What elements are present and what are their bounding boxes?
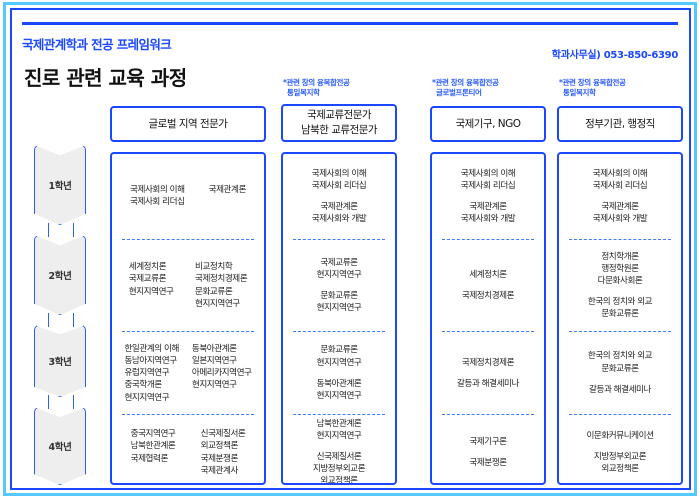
course-item: 국제분쟁론 xyxy=(201,453,246,465)
course-item: 다문화사회론 xyxy=(559,275,681,287)
course-item: 현지지역연구 xyxy=(192,379,252,391)
track-note-3: *관련 창의 융복합전공글로벌프론티어 xyxy=(432,78,498,98)
course-item: 갈등과 해결세미나 xyxy=(432,378,544,390)
course-group: 국제관계론국제사회와 개발 xyxy=(559,201,681,225)
course-subcolumn-right: 국제관계론 xyxy=(209,184,246,208)
course-item: 문화교류론 xyxy=(195,286,247,298)
course-item: 현지지역연구 xyxy=(283,430,395,442)
track-1-year-3-courses: 한일관계의 이해동남아지역연구유럽지역연구중국학개론현지지역연구동북아관계론일본… xyxy=(112,332,264,414)
course-item: 행정학원론 xyxy=(559,263,681,275)
year-chip-3: 3학년 xyxy=(34,325,86,397)
course-group: 국제교류론현지지역연구 xyxy=(283,257,395,281)
course-item: 국제관계사 xyxy=(201,465,246,477)
course-item: 지방정부외교론 xyxy=(283,463,395,475)
course-item: 비교정치학 xyxy=(195,261,247,273)
course-item: 지방정부외교론 xyxy=(559,451,681,463)
track-header-label: 남북한 교류전문가 xyxy=(301,123,377,138)
year-rail-connector xyxy=(48,223,74,237)
year-rail: 1학년2학년3학년4학년 xyxy=(34,145,86,485)
track-3-year-4-courses: 국제기구론국제분쟁론 xyxy=(432,415,544,485)
course-group: 국제기구론 xyxy=(432,436,544,448)
course-item: 동북아관계론 xyxy=(283,378,395,390)
course-item: 국제관계론 xyxy=(209,184,246,196)
track-2-year-2-courses: 국제교류론현지지역연구문화교류론현지지역연구 xyxy=(283,240,395,332)
course-item: 국제관계론 xyxy=(432,201,544,213)
track-body-4: 국제사회의 이해국제사회 리더십국제관계론국제사회와 개발정치학개론행정학원론다… xyxy=(557,152,683,485)
course-item: 신국제질서론 xyxy=(201,428,246,440)
course-item: 국제협력론 xyxy=(131,453,176,465)
course-subcolumn-left: 중국지역연구남북한관계론국제협력론 xyxy=(131,428,176,477)
course-group: 국제사회의 이해국제사회 리더십 xyxy=(559,168,681,192)
course-item: 현지지역연구 xyxy=(283,357,395,369)
course-item: 남북한관계론 xyxy=(283,418,395,430)
course-group: 국제관계론국제사회와 개발 xyxy=(283,201,395,225)
course-item: 갈등과 해결세미나 xyxy=(559,384,681,396)
track-header-2[interactable]: 국제교류전문가남북한 교류전문가 xyxy=(281,104,397,142)
track-body-2: 국제사회의 이해국제사회 리더십국제관계론국제사회와 개발국제교류론현지지역연구… xyxy=(281,152,397,485)
course-item: 아메리카지역연구 xyxy=(192,367,252,379)
year-rail-connector xyxy=(48,313,74,327)
track-4-year-4-courses: 이문화커뮤니케이션지방정부외교론외교정책론 xyxy=(559,415,681,485)
course-item: 한국의 정치와 외교 xyxy=(559,350,681,362)
course-group: 지방정부외교론외교정책론 xyxy=(559,451,681,475)
track-4-year-1-courses: 국제사회의 이해국제사회 리더십국제관계론국제사회와 개발 xyxy=(559,154,681,239)
page-title: 진로 관련 교육 과정 xyxy=(24,62,187,91)
course-item: 현지지역연구 xyxy=(195,298,247,310)
course-item: 현지지역연구 xyxy=(283,302,395,314)
course-item: 한국의 정치와 외교 xyxy=(559,296,681,308)
course-group: 국제정치경제론 xyxy=(432,357,544,369)
track-header-label: 국제기구, NGO xyxy=(455,117,520,132)
course-item: 국제사회의 이해 xyxy=(432,168,544,180)
course-item: 국제관계론 xyxy=(283,201,395,213)
track-header-label: 글로벌 지역 전문가 xyxy=(149,117,228,132)
course-group: 갈등과 해결세미나 xyxy=(432,378,544,390)
track-3-year-3-courses: 국제정치경제론갈등과 해결세미나 xyxy=(432,332,544,414)
header-rule xyxy=(22,22,678,25)
course-item: 정치학개론 xyxy=(559,251,681,263)
course-group: 정치학개론행정학원론다문화사회론 xyxy=(559,251,681,288)
course-group: 신국제질서론지방정부외교론외교정책론 xyxy=(283,451,395,485)
course-item: 국제사회와 개발 xyxy=(559,213,681,225)
course-item: 국제사회와 개발 xyxy=(283,213,395,225)
track-4-year-3-courses: 한국의 정치와 외교문화교류론갈등과 해결세미나 xyxy=(559,332,681,414)
course-subcolumn-right: 신국제질서론외교정책론국제분쟁론국제관계사 xyxy=(201,428,246,477)
course-item: 동북아관계론 xyxy=(192,343,252,355)
track-note-4: *관련 창의 융복합전공통일복지학 xyxy=(559,78,625,98)
course-subcolumn-left: 세계정치론국제교류론현지지역연구 xyxy=(129,261,174,310)
course-subcolumn-left: 국제사회의 이해국제사회 리더십 xyxy=(130,184,184,208)
track-2-year-1-courses: 국제사회의 이해국제사회 리더십국제관계론국제사회와 개발 xyxy=(283,154,395,239)
track-body-3: 국제사회의 이해국제사회 리더십국제관계론국제사회와 개발세계정치론국제정치경제… xyxy=(430,152,546,485)
course-item: 국제교류론 xyxy=(283,257,395,269)
course-item: 남북한관계론 xyxy=(131,440,176,452)
course-group: 이문화커뮤니케이션 xyxy=(559,430,681,442)
course-group: 갈등과 해결세미나 xyxy=(559,384,681,396)
course-group: 문화교류론현지지역연구 xyxy=(283,344,395,368)
track-header-3[interactable]: 국제기구, NGO xyxy=(430,106,546,142)
course-group: 한국의 정치와 외교문화교류론 xyxy=(559,350,681,374)
course-item: 국제사회의 이해 xyxy=(283,168,395,180)
track-2-year-3-courses: 문화교류론현지지역연구동북아관계론현지지역연구 xyxy=(283,332,395,414)
course-item: 국제기구론 xyxy=(432,436,544,448)
course-item: 외교정책론 xyxy=(283,475,395,485)
track-2-year-4-courses: 남북한관계론현지지역연구신국제질서론지방정부외교론외교정책론 xyxy=(283,415,395,485)
year-chip-4: 4학년 xyxy=(34,407,86,485)
track-header-4[interactable]: 정부기관, 행정직 xyxy=(557,106,683,142)
track-note-line: *관련 창의 융복합전공 xyxy=(283,78,349,88)
track-3-year-1-courses: 국제사회의 이해국제사회 리더십국제관계론국제사회와 개발 xyxy=(432,154,544,239)
track-1-year-1-courses: 국제사회의 이해국제사회 리더십국제관계론 xyxy=(112,154,264,239)
course-item: 문화교류론 xyxy=(283,344,395,356)
course-group: 국제정치경제론 xyxy=(432,290,544,302)
course-item: 문화교류론 xyxy=(559,308,681,320)
course-item: 중국지역연구 xyxy=(131,428,176,440)
course-item: 국제사회 리더십 xyxy=(432,180,544,192)
course-group: 국제사회의 이해국제사회 리더십 xyxy=(283,168,395,192)
course-item: 국제사회의 이해 xyxy=(559,168,681,180)
track-header-1[interactable]: 글로벌 지역 전문가 xyxy=(110,106,266,142)
office-contact: 학과사무실) 053-850-6390 xyxy=(552,46,678,61)
track-note-line: 통일복지학 xyxy=(559,88,625,98)
course-group: 세계정치론 xyxy=(432,269,544,281)
course-item: 국제교류론 xyxy=(129,273,174,285)
course-item: 국제사회 리더십 xyxy=(559,180,681,192)
track-1-year-2-courses: 세계정치론국제교류론현지지역연구비교정치학국제정치경제론문화교류론현지지역연구 xyxy=(112,240,264,332)
year-chip-label: 3학년 xyxy=(49,354,72,368)
course-item: 국제분쟁론 xyxy=(432,457,544,469)
track-note-line: 글로벌프론티어 xyxy=(432,88,498,98)
course-item: 신국제질서론 xyxy=(283,451,395,463)
track-header-label: 국제교류전문가 xyxy=(307,108,371,123)
course-item: 문화교류론 xyxy=(559,363,681,375)
year-chip-1: 1학년 xyxy=(34,145,86,225)
course-subcolumn-right: 비교정치학국제정치경제론문화교류론현지지역연구 xyxy=(195,261,247,310)
course-item: 중국학개론 xyxy=(124,379,178,391)
year-chip-label: 4학년 xyxy=(49,439,72,453)
course-group: 남북한관계론현지지역연구 xyxy=(283,418,395,442)
course-item: 국제정치경제론 xyxy=(432,357,544,369)
year-chip-label: 2학년 xyxy=(49,268,72,282)
course-item: 일본지역연구 xyxy=(192,355,252,367)
track-3-year-2-courses: 세계정치론국제정치경제론 xyxy=(432,240,544,332)
course-subcolumn-left: 한일관계의 이해동남아지역연구유럽지역연구중국학개론현지지역연구 xyxy=(124,343,178,404)
course-item: 한일관계의 이해 xyxy=(124,343,178,355)
course-item: 동남아지역연구 xyxy=(124,355,178,367)
course-item: 현지지역연구 xyxy=(283,390,395,402)
course-group: 한국의 정치와 외교문화교류론 xyxy=(559,296,681,320)
course-item: 국제관계론 xyxy=(559,201,681,213)
department-title: 국제관계학과 전공 프레임워크 xyxy=(22,34,171,53)
course-item: 국제사회의 이해 xyxy=(130,184,184,196)
track-note-line: *관련 창의 융복합전공 xyxy=(432,78,498,88)
course-item: 유럽지역연구 xyxy=(124,367,178,379)
track-4-year-2-courses: 정치학개론행정학원론다문화사회론한국의 정치와 외교문화교류론 xyxy=(559,240,681,332)
year-chip-2: 2학년 xyxy=(34,235,86,315)
course-group: 국제관계론국제사회와 개발 xyxy=(432,201,544,225)
course-group: 문화교류론현지지역연구 xyxy=(283,290,395,314)
course-item: 현지지역연구 xyxy=(129,286,174,298)
course-item: 외교정책론 xyxy=(201,440,246,452)
course-group: 동북아관계론현지지역연구 xyxy=(283,378,395,402)
course-item: 이문화커뮤니케이션 xyxy=(559,430,681,442)
course-item: 세계정치론 xyxy=(432,269,544,281)
course-group: 국제사회의 이해국제사회 리더십 xyxy=(432,168,544,192)
course-subcolumn-right: 동북아관계론일본지역연구아메리카지역연구현지지역연구 xyxy=(192,343,252,404)
track-note-line: *관련 창의 융복합전공 xyxy=(559,78,625,88)
course-item: 현지지역연구 xyxy=(283,269,395,281)
year-chip-label: 1학년 xyxy=(49,178,72,192)
course-item: 국제사회와 개발 xyxy=(432,213,544,225)
track-note-line: 통일복지학 xyxy=(283,88,349,98)
track-note-2: *관련 창의 융복합전공통일복지학 xyxy=(283,78,349,98)
course-item: 세계정치론 xyxy=(129,261,174,273)
year-rail-connector xyxy=(48,395,74,409)
course-item: 국제정치경제론 xyxy=(195,273,247,285)
course-item: 문화교류론 xyxy=(283,290,395,302)
course-item: 국제사회 리더십 xyxy=(283,180,395,192)
course-item: 국제정치경제론 xyxy=(432,290,544,302)
course-group: 국제분쟁론 xyxy=(432,457,544,469)
track-1-year-4-courses: 중국지역연구남북한관계론국제협력론신국제질서론외교정책론국제분쟁론국제관계사 xyxy=(112,415,264,485)
course-item: 외교정책론 xyxy=(559,463,681,475)
track-header-label: 정부기관, 행정직 xyxy=(585,117,655,132)
course-item: 현지지역연구 xyxy=(124,392,178,404)
track-body-1: 국제사회의 이해국제사회 리더십국제관계론세계정치론국제교류론현지지역연구비교정… xyxy=(110,152,266,485)
course-item: 국제사회 리더십 xyxy=(130,196,184,208)
